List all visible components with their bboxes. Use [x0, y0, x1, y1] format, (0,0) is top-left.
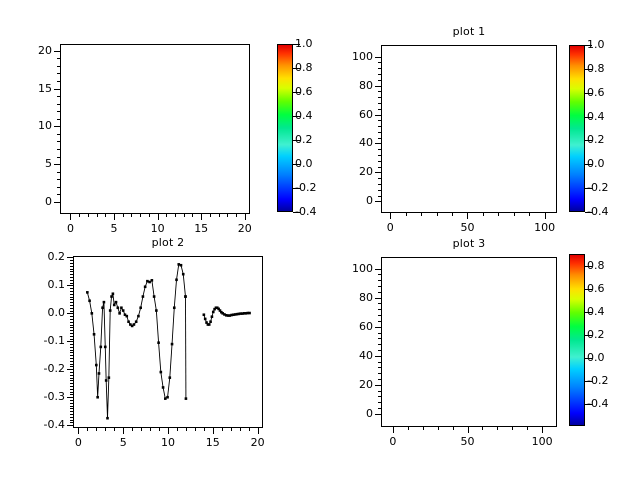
panel-bottom-left-ytick-minor	[70, 394, 73, 395]
panel-bottom-right-ytick-minor	[378, 321, 381, 322]
panel-top-left-xtick-minor	[227, 214, 228, 217]
panel-bottom-left-ytick-minor	[70, 263, 73, 264]
panel-top-right-ytick	[375, 115, 381, 116]
panel-top-left-xtick-label: 15	[185, 222, 217, 235]
panel-bottom-left-ytick-minor	[70, 297, 73, 298]
panel-bottom-right-colorbar-tick-label: -0.2	[587, 374, 608, 387]
panel-bottom-right-colorbar-tick-label: 0.2	[587, 328, 605, 341]
panel-top-right-ytick	[375, 143, 381, 144]
panel-top-left-xtick-label: 10	[142, 222, 174, 235]
panel-bottom-right-ytick-minor	[378, 391, 381, 392]
panel-top-right-ytick-minor	[378, 109, 381, 110]
panel-bottom-right-xtick	[542, 427, 543, 433]
panel-top-left-axes-frame	[60, 44, 250, 214]
panel-bottom-right-ytick-label: 0	[337, 407, 373, 420]
panel-bottom-left-ytick-minor	[70, 392, 73, 393]
panel-top-left-colorbar-tick-label: 0.0	[295, 157, 313, 170]
panel-top-right-ytick-minor	[378, 103, 381, 104]
panel-top-right-ytick-minor	[378, 62, 381, 63]
panel-bottom-right-xtick-minor	[497, 427, 498, 430]
panel-bottom-right-ytick-label: 20	[337, 378, 373, 391]
panel-bottom-left-ytick-minor	[70, 271, 73, 272]
panel-bottom-right-xtick-minor	[527, 427, 528, 430]
panel-top-left-xtick	[201, 214, 202, 220]
panel-bottom-left-ytick-minor	[70, 403, 73, 404]
panel-bottom-left-ytick-minor	[70, 305, 73, 306]
panel-bottom-left-xtick-minor	[96, 428, 97, 431]
panel-bottom-left-xtick-minor	[249, 428, 250, 431]
panel-bottom-left-xtick-minor	[195, 428, 196, 431]
panel-top-right-ytick-minor	[378, 167, 381, 168]
panel-bottom-left-ytick	[67, 285, 73, 286]
panel-bottom-left-ytick-minor	[70, 414, 73, 415]
panel-bottom-right-ytick-minor	[378, 309, 381, 310]
panel-top-left-xtick-minor	[184, 214, 185, 217]
panel-bottom-left-ytick-minor	[70, 302, 73, 303]
panel-bottom-right-ytick-minor	[378, 402, 381, 403]
panel-top-left-ytick-label: 20	[16, 44, 52, 57]
panel-bottom-left-ytick-minor	[70, 380, 73, 381]
panel-top-left-ytick-minor	[57, 172, 60, 173]
panel-bottom-left-ytick-minor	[70, 366, 73, 367]
panel-top-right-ytick-minor	[378, 91, 381, 92]
panel-bottom-right-xtick-minor	[423, 427, 424, 430]
panel-top-right-ytick-label: 80	[337, 79, 373, 92]
panel-bottom-right-axes-frame	[381, 257, 557, 427]
panel-bottom-left-ytick-minor	[70, 406, 73, 407]
panel-bottom-left-ytick-label: 0.2	[25, 250, 65, 263]
panel-bottom-left-ytick-minor	[70, 260, 73, 261]
panel-top-right-ytick-minor	[378, 184, 381, 185]
panel-bottom-right-ytick-minor	[378, 367, 381, 368]
panel-bottom-left-xtick-minor	[87, 428, 88, 431]
panel-bottom-right-ytick-minor	[378, 362, 381, 363]
panel-bottom-left-ytick-minor	[70, 347, 73, 348]
panel-bottom-left-ytick-label: 0.1	[25, 278, 65, 291]
panel-top-left-ytick-minor	[57, 187, 60, 188]
panel-top-left-colorbar-gradient	[278, 45, 292, 211]
panel-top-right-ytick-minor	[378, 68, 381, 69]
panel-top-left-xtick-minor	[88, 214, 89, 217]
panel-top-right-ytick-minor	[378, 138, 381, 139]
panel-bottom-left-xtick-minor	[177, 428, 178, 431]
panel-bottom-left-ytick-minor	[70, 299, 73, 300]
panel-bottom-left-ytick-minor	[70, 333, 73, 334]
panel-top-left-ytick-minor	[57, 111, 60, 112]
panel-top-right-xtick-minor	[483, 213, 484, 216]
panel-bottom-left-xtick-label: 0	[62, 436, 94, 449]
panel-top-left-colorbar-tick-label: -0.4	[295, 205, 316, 218]
panel-top-right-xtick-minor	[452, 213, 453, 216]
figure-canvas: 05101520051015201.00.80.60.40.20.0-0.2-0…	[0, 0, 640, 480]
panel-bottom-right-xtick-minor	[453, 427, 454, 430]
panel-top-left-xtick-minor	[140, 214, 141, 217]
panel-top-left-colorbar-tick-label: 0.4	[295, 109, 313, 122]
panel-top-right-xtick-minor	[421, 213, 422, 216]
panel-bottom-left-xtick-label: 15	[197, 436, 229, 449]
panel-bottom-left-title: plot 2	[73, 236, 263, 249]
panel-top-left-ytick	[54, 126, 60, 127]
panel-top-left-ytick	[54, 51, 60, 52]
panel-top-right-ytick	[375, 201, 381, 202]
panel-bottom-left-ytick-minor	[70, 325, 73, 326]
panel-top-left-xtick-label: 20	[229, 222, 261, 235]
panel-bottom-right-xtick-minor	[482, 427, 483, 430]
panel-top-left-colorbar	[277, 44, 293, 212]
panel-top-right-ytick-minor	[378, 74, 381, 75]
panel-bottom-left-xtick-minor	[150, 428, 151, 431]
panel-bottom-left-ytick-minor	[70, 277, 73, 278]
panel-top-left-colorbar-tick-label: 0.2	[295, 133, 313, 146]
panel-top-right-xtick-label: 100	[529, 221, 561, 234]
panel-top-right-ytick-minor	[378, 132, 381, 133]
panel-top-right-xtick-minor	[406, 213, 407, 216]
panel-bottom-right-ytick	[375, 298, 381, 299]
panel-bottom-left-xtick-label: 20	[242, 436, 274, 449]
panel-bottom-left-xtick	[213, 428, 214, 434]
panel-top-left-ytick	[54, 164, 60, 165]
panel-bottom-left-xtick	[258, 428, 259, 434]
panel-bottom-right-ytick-label: 40	[337, 349, 373, 362]
panel-bottom-left-ytick-minor	[70, 422, 73, 423]
panel-bottom-right-ytick-minor	[378, 333, 381, 334]
panel-top-right-xtick	[467, 213, 468, 219]
panel-top-left-ytick-minor	[57, 66, 60, 67]
panel-top-left-xtick	[158, 214, 159, 220]
panel-top-left-ytick-minor	[57, 96, 60, 97]
panel-bottom-right-ytick-minor	[378, 274, 381, 275]
panel-bottom-left-ytick-minor	[70, 358, 73, 359]
panel-bottom-right-ytick-minor	[378, 292, 381, 293]
panel-bottom-left-xtick-minor	[114, 428, 115, 431]
panel-bottom-right-colorbar-tick-label: 0.4	[587, 305, 605, 318]
panel-top-left-xtick-minor	[210, 214, 211, 217]
panel-top-right-xtick	[545, 213, 546, 219]
panel-bottom-right-colorbar-tick-label: -0.4	[587, 397, 608, 410]
panel-bottom-right-ytick-minor	[378, 408, 381, 409]
panel-bottom-left-ytick-label: 0.0	[25, 306, 65, 319]
panel-top-right-colorbar-tick-label: -0.2	[587, 181, 608, 194]
panel-bottom-left-ytick-minor	[70, 344, 73, 345]
panel-top-right-ytick-label: 60	[337, 108, 373, 121]
panel-top-left-xtick-minor	[97, 214, 98, 217]
panel-bottom-left-xtick	[78, 428, 79, 434]
panel-top-right-ytick-label: 100	[337, 50, 373, 63]
panel-bottom-left-xtick	[123, 428, 124, 434]
panel-top-right-colorbar-tick-label: -0.4	[587, 205, 608, 218]
panel-top-left-ytick-label: 10	[16, 119, 52, 132]
panel-bottom-right-xtick	[393, 427, 394, 433]
panel-top-right-colorbar	[569, 45, 585, 212]
panel-top-right-colorbar-gradient	[570, 46, 584, 211]
panel-bottom-left-xtick-minor	[240, 428, 241, 431]
panel-bottom-right-ytick	[375, 385, 381, 386]
panel-top-right-ytick-minor	[378, 80, 381, 81]
panel-bottom-left-ytick-label: -0.3	[25, 390, 65, 403]
panel-bottom-left-xtick-minor	[105, 428, 106, 431]
panel-bottom-left-ytick-minor	[70, 274, 73, 275]
panel-top-right-colorbar-tick-label: 1.0	[587, 38, 605, 51]
panel-bottom-right-ytick	[375, 414, 381, 415]
panel-top-left-xtick-minor	[123, 214, 124, 217]
panel-top-right-title: plot 1	[381, 25, 557, 38]
panel-bottom-left-ytick-minor	[70, 383, 73, 384]
panel-top-right-ytick-minor	[378, 190, 381, 191]
panel-bottom-right-ytick-minor	[378, 280, 381, 281]
panel-bottom-left-ytick-minor	[70, 389, 73, 390]
panel-top-right-xtick-minor	[514, 213, 515, 216]
panel-top-right-xtick-minor	[498, 213, 499, 216]
panel-bottom-left-xtick-label: 5	[107, 436, 139, 449]
panel-top-left-ytick-minor	[57, 81, 60, 82]
panel-bottom-left-xtick-minor	[231, 428, 232, 431]
panel-bottom-left-xtick-minor	[141, 428, 142, 431]
line-plot-series	[73, 256, 263, 428]
panel-top-left-colorbar-tick-label: 1.0	[295, 37, 313, 50]
panel-top-left-ytick	[54, 202, 60, 203]
panel-bottom-right-xtick-minor	[408, 427, 409, 430]
panel-bottom-left-ytick-minor	[70, 288, 73, 289]
panel-top-right-colorbar-tick-label: 0.2	[587, 133, 605, 146]
panel-bottom-left-ytick	[67, 397, 73, 398]
panel-bottom-left-ytick-minor	[70, 330, 73, 331]
panel-bottom-right-ytick-minor	[378, 373, 381, 374]
panel-bottom-left-ytick-label: -0.2	[25, 362, 65, 375]
panel-top-left-xtick-label: 0	[54, 222, 86, 235]
panel-bottom-right-ytick-minor	[378, 396, 381, 397]
panel-bottom-right-ytick-label: 100	[337, 262, 373, 275]
panel-top-right-colorbar-tick-label: 0.6	[587, 86, 605, 99]
panel-bottom-right-ytick-label: 80	[337, 291, 373, 304]
panel-bottom-right-colorbar-tick-label: 0.0	[587, 351, 605, 364]
panel-bottom-left-ytick-minor	[70, 283, 73, 284]
panel-bottom-right-ytick-minor	[378, 379, 381, 380]
panel-bottom-left-ytick-minor	[70, 339, 73, 340]
panel-bottom-left-ytick-minor	[70, 364, 73, 365]
panel-bottom-left-ytick-minor	[70, 400, 73, 401]
panel-top-left-ytick-minor	[57, 194, 60, 195]
panel-top-right-ytick-label: 40	[337, 136, 373, 149]
panel-top-right-colorbar-tick-label: 0.4	[587, 110, 605, 123]
panel-top-left-ytick-minor	[57, 104, 60, 105]
panel-bottom-left-ytick-minor	[70, 350, 73, 351]
panel-bottom-right-xtick-label: 50	[452, 435, 484, 448]
panel-top-left-xtick-minor	[79, 214, 80, 217]
panel-bottom-left-ytick-minor	[70, 316, 73, 317]
panel-top-left-xtick-label: 5	[98, 222, 130, 235]
panel-top-right-ytick-label: 0	[337, 194, 373, 207]
panel-bottom-left-ytick	[67, 257, 73, 258]
panel-bottom-right-xtick-label: 0	[377, 435, 409, 448]
panel-bottom-left-ytick-minor	[70, 311, 73, 312]
panel-bottom-left-ytick-minor	[70, 386, 73, 387]
panel-bottom-right-ytick-minor	[378, 315, 381, 316]
panel-bottom-left-ytick-minor	[70, 408, 73, 409]
panel-top-left-xtick	[114, 214, 115, 220]
panel-bottom-right-title: plot 3	[381, 237, 557, 250]
panel-bottom-left-xtick-minor	[204, 428, 205, 431]
panel-top-right-xtick-label: 0	[374, 221, 406, 234]
panel-top-left-colorbar-tick-label: -0.2	[295, 181, 316, 194]
panel-bottom-left-ytick-label: -0.1	[25, 334, 65, 347]
panel-top-left-ytick-minor	[57, 157, 60, 158]
panel-bottom-left-ytick-minor	[70, 417, 73, 418]
panel-top-left-xtick-minor	[149, 214, 150, 217]
panel-bottom-left-ytick-minor	[70, 294, 73, 295]
panel-bottom-left-ytick-label: -0.4	[25, 418, 65, 431]
panel-bottom-right-ytick-minor	[378, 303, 381, 304]
panel-top-left-ytick-minor	[57, 141, 60, 142]
panel-top-left-ytick	[54, 89, 60, 90]
panel-bottom-left-ytick	[67, 341, 73, 342]
panel-bottom-left-ytick-minor	[70, 336, 73, 337]
panel-bottom-left-xtick-label: 10	[152, 436, 184, 449]
panel-bottom-left-ytick-minor	[70, 327, 73, 328]
panel-top-left-xtick-minor	[105, 214, 106, 217]
panel-bottom-right-xtick-label: 100	[526, 435, 558, 448]
panel-bottom-right-colorbar-tick-label: 0.8	[587, 259, 605, 272]
panel-bottom-left-ytick	[67, 425, 73, 426]
panel-bottom-left-ytick-minor	[70, 375, 73, 376]
panel-top-left-ytick-minor	[57, 179, 60, 180]
panel-bottom-left-ytick-minor	[70, 378, 73, 379]
panel-bottom-left-ytick-minor	[70, 322, 73, 323]
panel-top-left-xtick-minor	[236, 214, 237, 217]
panel-bottom-right-xtick	[468, 427, 469, 433]
panel-bottom-left-xtick-minor	[132, 428, 133, 431]
panel-bottom-left-xtick-minor	[222, 428, 223, 431]
panel-bottom-left-xtick	[168, 428, 169, 434]
panel-bottom-left-ytick-minor	[70, 352, 73, 353]
panel-top-left-ytick-minor	[57, 73, 60, 74]
panel-top-left-ytick-minor	[57, 58, 60, 59]
panel-top-left-colorbar-tick-label: 0.8	[295, 61, 313, 74]
panel-bottom-right-colorbar-gradient	[570, 255, 584, 425]
panel-bottom-left-ytick	[67, 313, 73, 314]
panel-bottom-left-ytick-minor	[70, 420, 73, 421]
panel-bottom-left-ytick-minor	[70, 411, 73, 412]
panel-top-left-xtick-minor	[166, 214, 167, 217]
panel-bottom-right-ytick	[375, 356, 381, 357]
panel-top-left-xtick-minor	[131, 214, 132, 217]
panel-bottom-right-ytick-minor	[378, 338, 381, 339]
panel-top-left-ytick-label: 5	[16, 157, 52, 170]
panel-top-left-xtick	[70, 214, 71, 220]
panel-top-right-ytick-minor	[378, 161, 381, 162]
panel-top-right-ytick	[375, 57, 381, 58]
panel-bottom-right-ytick	[375, 327, 381, 328]
panel-bottom-left-ytick-minor	[70, 372, 73, 373]
panel-top-right-ytick-minor	[378, 120, 381, 121]
panel-top-left-ytick-minor	[57, 149, 60, 150]
panel-top-right-ytick-minor	[378, 149, 381, 150]
panel-top-left-ytick-label: 0	[16, 195, 52, 208]
panel-bottom-left-ytick	[67, 369, 73, 370]
panel-top-left-ytick-label: 15	[16, 82, 52, 95]
panel-bottom-left-ytick-minor	[70, 266, 73, 267]
panel-bottom-right-xtick-minor	[512, 427, 513, 430]
panel-top-right-colorbar-tick-label: 0.8	[587, 62, 605, 75]
panel-bottom-right-ytick-minor	[378, 286, 381, 287]
panel-top-left-ytick-minor	[57, 119, 60, 120]
panel-bottom-left-ytick-minor	[70, 355, 73, 356]
panel-top-right-colorbar-tick-label: 0.0	[587, 157, 605, 170]
panel-top-right-xtick-minor	[529, 213, 530, 216]
panel-top-right-xtick-minor	[437, 213, 438, 216]
panel-bottom-right-colorbar-tick-label: 0.6	[587, 282, 605, 295]
panel-bottom-left-ytick-minor	[70, 308, 73, 309]
panel-top-left-xtick-minor	[175, 214, 176, 217]
panel-bottom-left-ytick-minor	[70, 361, 73, 362]
panel-top-right-ytick-minor	[378, 178, 381, 179]
panel-bottom-left-ytick-minor	[70, 280, 73, 281]
panel-top-left-colorbar-tick-label: 0.6	[295, 85, 313, 98]
panel-top-right-ytick	[375, 86, 381, 87]
panel-top-right-ytick-minor	[378, 155, 381, 156]
panel-bottom-right-ytick	[375, 269, 381, 270]
panel-bottom-left-xtick-minor	[186, 428, 187, 431]
panel-top-right-ytick-minor	[378, 196, 381, 197]
panel-top-right-ytick	[375, 172, 381, 173]
panel-bottom-right-ytick-label: 60	[337, 320, 373, 333]
panel-top-left-xtick-minor	[219, 214, 220, 217]
panel-top-left-ytick-minor	[57, 134, 60, 135]
panel-bottom-left-ytick-minor	[70, 319, 73, 320]
panel-bottom-right-ytick-minor	[378, 344, 381, 345]
panel-top-right-ytick-label: 20	[337, 165, 373, 178]
panel-bottom-left-xtick-minor	[159, 428, 160, 431]
panel-top-left-xtick	[245, 214, 246, 220]
panel-bottom-left-ytick-minor	[70, 291, 73, 292]
panel-top-right-xtick	[390, 213, 391, 219]
panel-bottom-right-xtick-minor	[438, 427, 439, 430]
panel-bottom-left-ytick-minor	[70, 269, 73, 270]
panel-top-right-ytick-minor	[378, 97, 381, 98]
panel-top-right-xtick-label: 50	[451, 221, 483, 234]
panel-top-right-ytick-minor	[378, 126, 381, 127]
panel-bottom-right-ytick-minor	[378, 350, 381, 351]
panel-top-left-xtick-minor	[192, 214, 193, 217]
panel-bottom-right-colorbar	[569, 254, 585, 426]
panel-top-right-axes-frame	[381, 45, 557, 213]
